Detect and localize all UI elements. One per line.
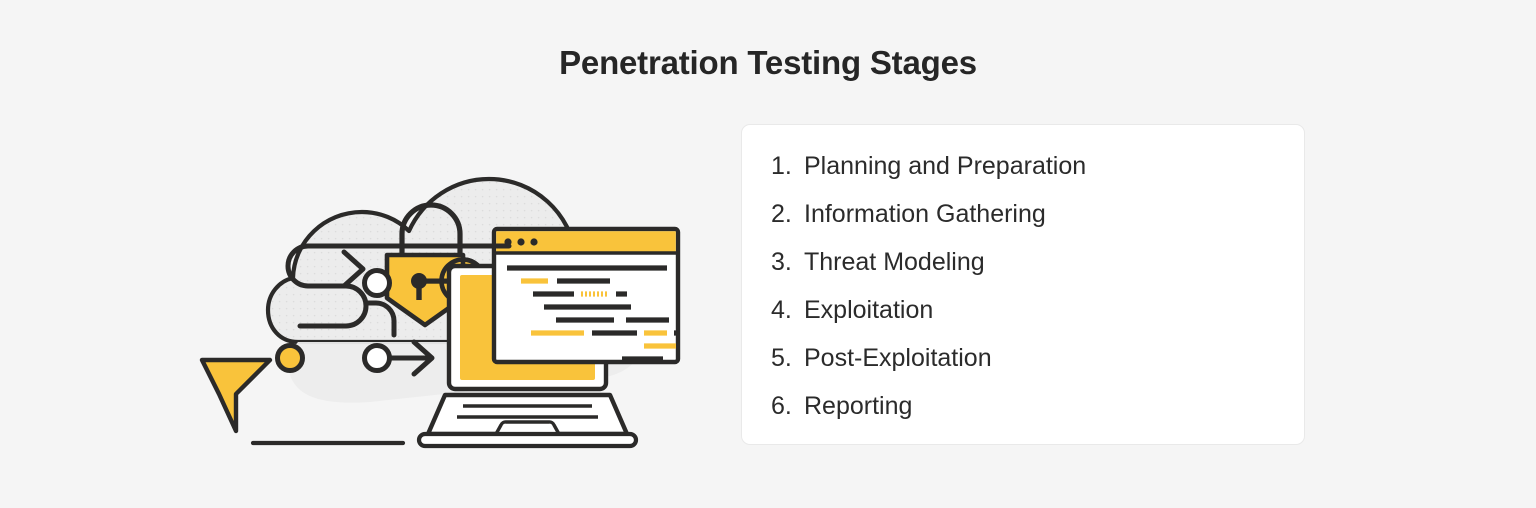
browser-window-icon [494, 229, 692, 372]
stage-label: Information Gathering [804, 200, 1046, 229]
stage-list-item: 4.Exploitation [742, 296, 1304, 344]
stages-card: 1.Planning and Preparation2.Information … [741, 124, 1305, 445]
stage-list-item: 2.Information Gathering [742, 200, 1304, 248]
stage-label: Threat Modeling [804, 248, 985, 277]
stage-number: 4. [771, 296, 804, 325]
stage-label: Planning and Preparation [804, 152, 1086, 181]
stage-label: Reporting [804, 392, 912, 421]
cloud-security-pentest-illustration [180, 118, 700, 468]
filled-dot [278, 346, 303, 371]
stage-label: Exploitation [804, 296, 933, 325]
stage-list-item: 5.Post-Exploitation [742, 344, 1304, 392]
stage-list-item: 3.Threat Modeling [742, 248, 1304, 296]
stage-number: 1. [771, 152, 804, 181]
stage-list-item: 1.Planning and Preparation [742, 152, 1304, 200]
stage-list-item: 6.Reporting [742, 392, 1304, 440]
stage-number: 6. [771, 392, 804, 421]
outline-dot-bottom [365, 346, 390, 371]
stage-number: 3. [771, 248, 804, 277]
stage-label: Post-Exploitation [804, 344, 992, 373]
stage-number: 2. [771, 200, 804, 229]
page-title: Penetration Testing Stages [0, 44, 1536, 82]
stages-list: 1.Planning and Preparation2.Information … [742, 125, 1304, 440]
cursor-triangle [202, 360, 270, 431]
stage-number: 5. [771, 344, 804, 373]
outline-dot-top [365, 271, 390, 296]
